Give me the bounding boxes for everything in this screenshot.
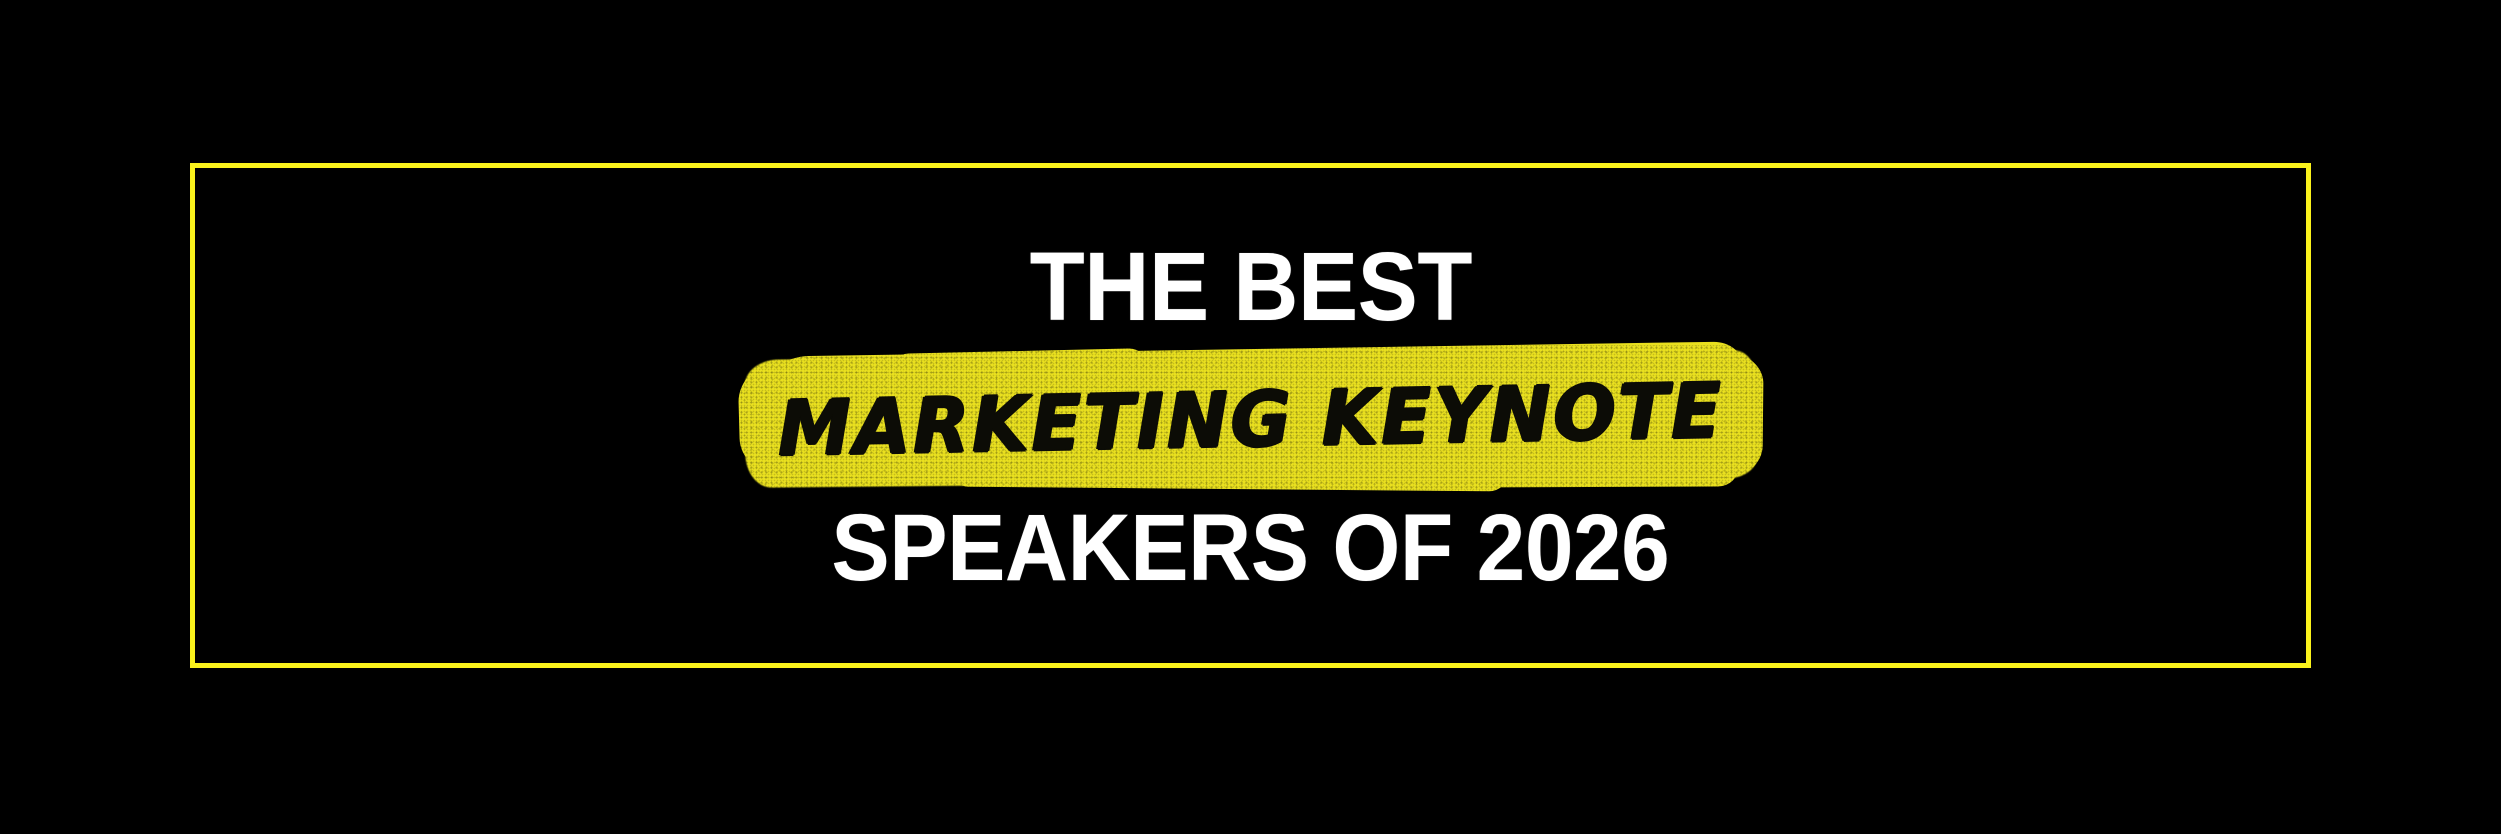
highlighted-headline-line: MARKETING KEYNOTE (739, 345, 1763, 495)
headline-line-middle: MARKETING KEYNOTE (758, 336, 1744, 505)
headline-line-bottom: SPEAKERS OF 2026 (832, 501, 1670, 596)
headline-block: THE BEST MARKETING KEYNOTE SPEAKERS OF 2… (0, 0, 2501, 834)
headline-line-top: THE BEST (1029, 238, 1471, 335)
marketing-banner: THE BEST MARKETING KEYNOTE SPEAKERS OF 2… (0, 0, 2501, 834)
